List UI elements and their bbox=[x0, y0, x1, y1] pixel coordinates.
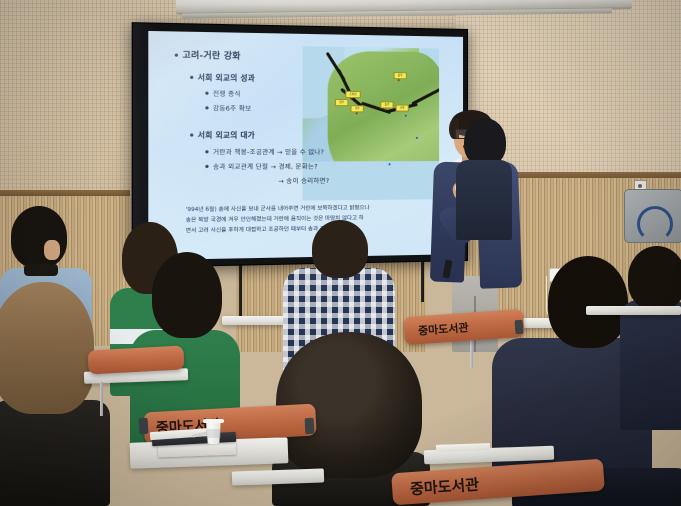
audience-hair bbox=[11, 206, 67, 268]
chair-clip bbox=[305, 418, 315, 434]
chair-clip bbox=[515, 320, 524, 335]
wall-control-panel[interactable] bbox=[624, 189, 681, 243]
slide-bullet-6: 송과 외교관계 단절 → 경제, 문화는? bbox=[205, 161, 317, 171]
audience-body bbox=[456, 160, 512, 240]
audience-hair bbox=[548, 256, 628, 348]
map-marker-1: 용주 bbox=[394, 72, 407, 79]
cup-rim bbox=[203, 419, 224, 423]
dial-icon bbox=[637, 206, 673, 242]
lecture-hall-photo: 흥화진 용주 통주 철주 귀주 곽주 고려-거란 강화 서희 외교의 성과 bbox=[0, 0, 681, 506]
lanyard bbox=[24, 264, 58, 276]
map-marker-2: 통주 bbox=[380, 101, 393, 108]
audience-body bbox=[0, 400, 110, 506]
bullet-dot-icon bbox=[205, 165, 208, 168]
desk-far-right bbox=[586, 306, 681, 315]
audience-hair bbox=[464, 118, 506, 166]
chair-clip bbox=[139, 418, 149, 434]
slide-bullet-5: 거란과 책봉-조공관계 → 믿을 수 없나? bbox=[205, 147, 324, 156]
slide-bullet-3: 강동6주 확보 bbox=[205, 103, 251, 113]
cup-sleeve bbox=[206, 429, 221, 438]
slide-surface: 흥화진 용주 통주 철주 귀주 곽주 고려-거란 강화 서희 외교의 성과 bbox=[148, 31, 463, 260]
bullet-dot-icon bbox=[175, 53, 178, 56]
audience-hair bbox=[312, 220, 368, 278]
audience-hair bbox=[0, 282, 94, 414]
bullet-dot-icon bbox=[205, 150, 208, 153]
chair-mid-left bbox=[87, 346, 184, 375]
map-dot-4 bbox=[356, 112, 358, 114]
bullet-dot-icon bbox=[190, 76, 193, 79]
slide-footnote-line-0: '994년 6월) 송에 사신을 보내 군사를 내어주면 거란에 보복하겠다고 … bbox=[186, 203, 447, 214]
audience-hair bbox=[628, 246, 681, 310]
map-marker-5: 곽주 bbox=[350, 105, 363, 112]
map-marker-4: 귀주 bbox=[396, 104, 409, 111]
map-dot-3 bbox=[384, 108, 386, 110]
audience-ear-area bbox=[44, 240, 60, 260]
map-dot-1 bbox=[398, 79, 400, 81]
bullet-dot-icon bbox=[205, 106, 208, 109]
desk-leg bbox=[100, 382, 103, 416]
slide-bullet-2: 전쟁 종식 bbox=[205, 89, 240, 99]
map-dot-2 bbox=[350, 98, 352, 100]
slide-bullet-1: 서희 외교의 성과 bbox=[190, 73, 255, 84]
map-marker-3: 철주 bbox=[335, 99, 348, 106]
audience-body bbox=[620, 300, 681, 430]
map-marker-0: 흥화진 bbox=[345, 91, 360, 98]
slide-bullet-7: → 송이 승리하면? bbox=[278, 176, 329, 186]
audience-hair bbox=[152, 252, 222, 338]
slide-bullet-0: 고려-거란 강화 bbox=[175, 48, 241, 62]
slide-bullet-4: 서희 외교의 대가 bbox=[190, 130, 255, 141]
bullet-dot-icon bbox=[205, 92, 208, 95]
bullet-dot-icon bbox=[190, 133, 193, 136]
